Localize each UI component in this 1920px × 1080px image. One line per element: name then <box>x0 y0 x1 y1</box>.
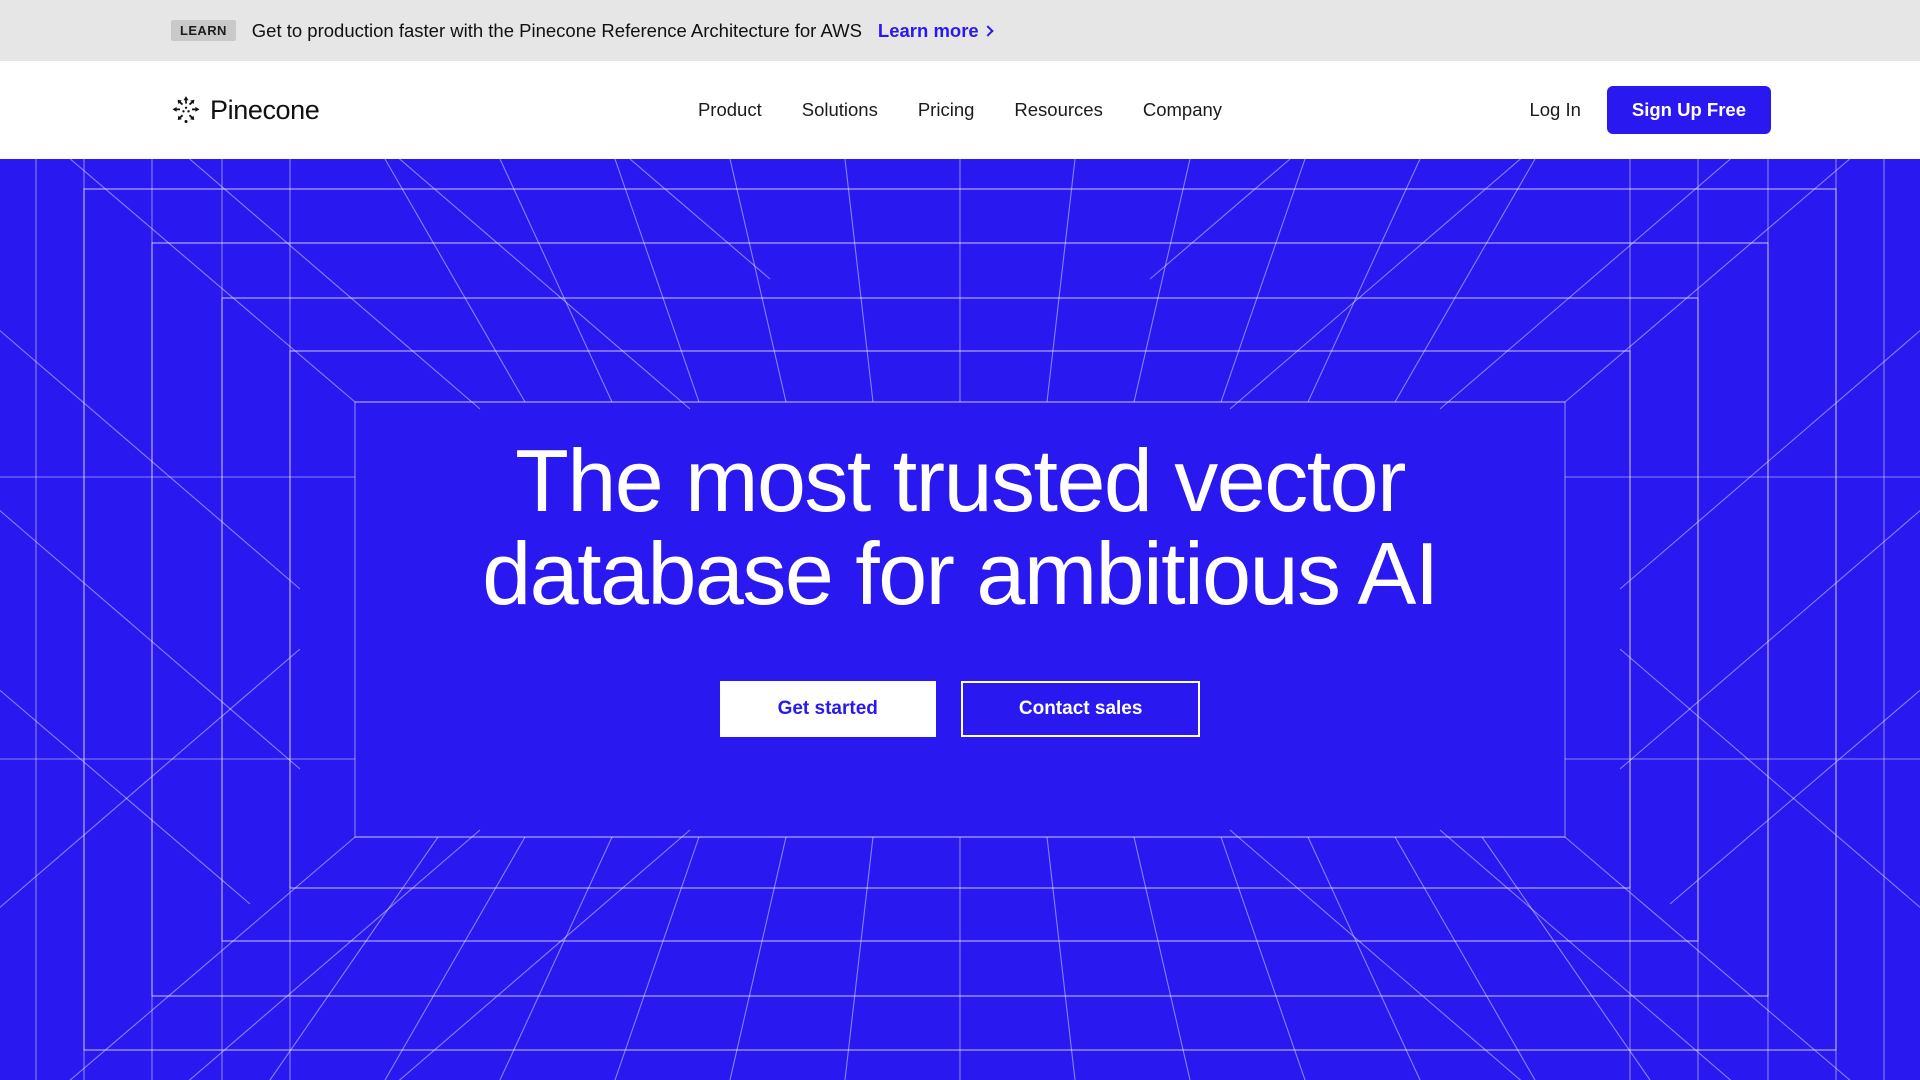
logo[interactable]: Pinecone <box>171 95 319 125</box>
hero-title-line-1: The most trusted vector <box>515 431 1405 530</box>
nav-item-product[interactable]: Product <box>698 99 762 121</box>
primary-nav: Product Solutions Pricing Resources Comp… <box>698 99 1222 121</box>
banner-badge: LEARN <box>171 20 236 41</box>
pinecone-mark-icon <box>171 95 201 125</box>
nav-item-company[interactable]: Company <box>1143 99 1222 121</box>
chevron-right-icon <box>982 25 993 36</box>
hero-section: The most trusted vector database for amb… <box>0 159 1920 1080</box>
signup-free-button[interactable]: Sign Up Free <box>1607 86 1771 135</box>
banner-message: Get to production faster with the Pineco… <box>252 20 862 42</box>
contact-sales-button[interactable]: Contact sales <box>961 681 1201 738</box>
nav-item-pricing[interactable]: Pricing <box>918 99 975 121</box>
site-header: Pinecone Product Solutions Pricing Resou… <box>0 61 1920 159</box>
nav-item-resources[interactable]: Resources <box>1014 99 1102 121</box>
announcement-banner: LEARN Get to production faster with the … <box>0 0 1920 61</box>
banner-learn-more-link[interactable]: Learn more <box>878 20 992 42</box>
hero-cta-group: Get started Contact sales <box>720 681 1201 738</box>
banner-learn-more-label: Learn more <box>878 20 979 42</box>
nav-item-solutions[interactable]: Solutions <box>802 99 878 121</box>
logo-wordmark: Pinecone <box>210 97 319 124</box>
login-link[interactable]: Log In <box>1529 99 1580 121</box>
get-started-button[interactable]: Get started <box>720 681 936 738</box>
header-actions: Log In Sign Up Free <box>1529 86 1771 135</box>
hero-title: The most trusted vector database for amb… <box>482 434 1438 621</box>
hero-content: The most trusted vector database for amb… <box>0 159 1920 1080</box>
hero-title-line-2: database for ambitious AI <box>482 524 1438 623</box>
